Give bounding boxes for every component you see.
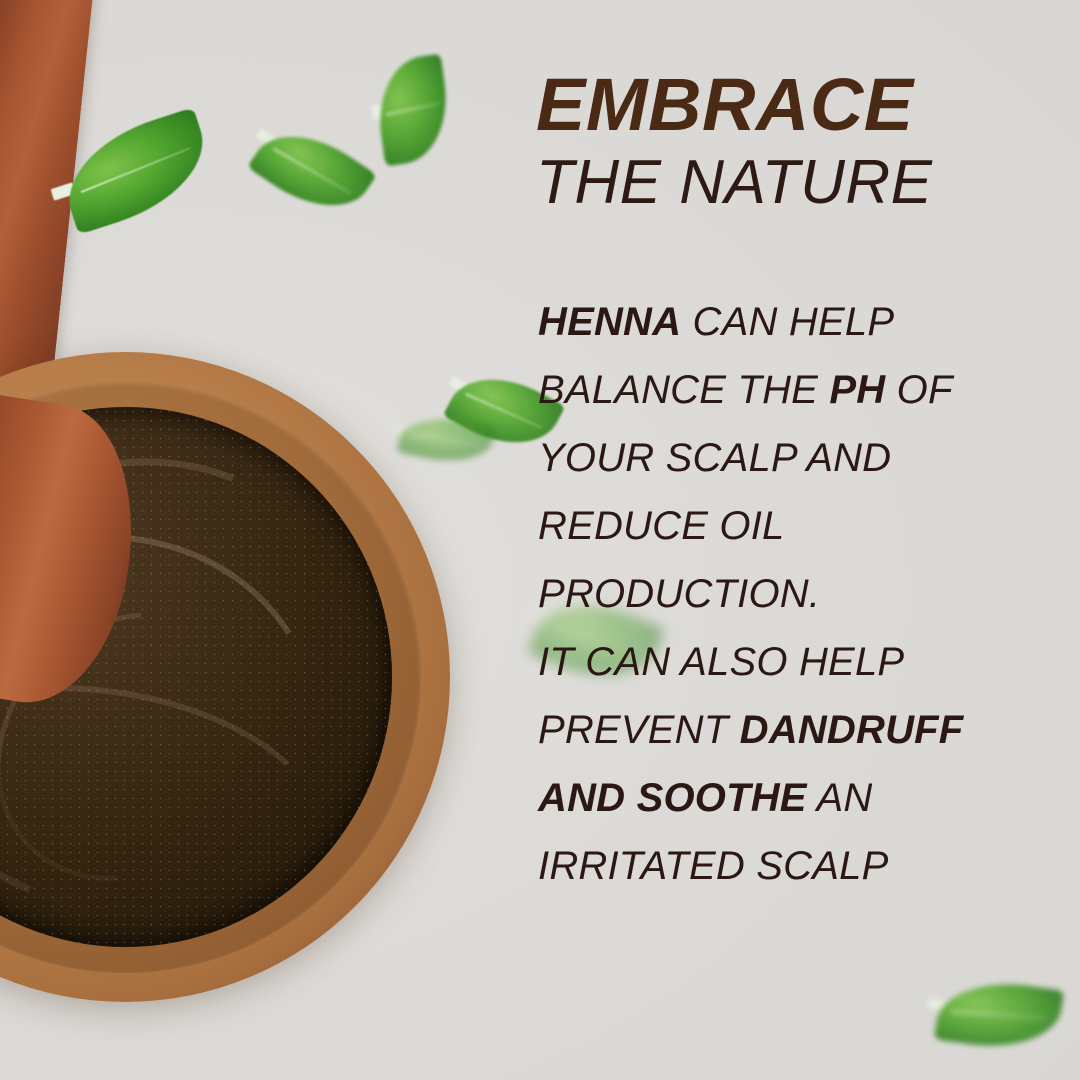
product-photo bbox=[0, 0, 500, 1080]
headline-secondary: THE NATURE bbox=[536, 148, 1056, 217]
benefit-paragraph-2: IT CAN ALSO HELP PREVENT DANDRUFF AND SO… bbox=[538, 628, 1050, 900]
ph-emphasis: PH bbox=[829, 368, 885, 412]
poster-canvas: EMBRACE THE NATURE HENNA CAN HELP BALANC… bbox=[0, 0, 1080, 1080]
headline-block: EMBRACE THE NATURE bbox=[536, 68, 1056, 217]
benefit-paragraph-1: HENNA CAN HELP BALANCE THE PH OF YOUR SC… bbox=[538, 288, 1050, 628]
henna-lead: HENNA bbox=[538, 300, 681, 344]
body-copy: HENNA CAN HELP BALANCE THE PH OF YOUR SC… bbox=[538, 288, 1050, 900]
text-column: EMBRACE THE NATURE HENNA CAN HELP BALANC… bbox=[536, 0, 1056, 1080]
headline-primary: EMBRACE bbox=[536, 68, 1056, 142]
